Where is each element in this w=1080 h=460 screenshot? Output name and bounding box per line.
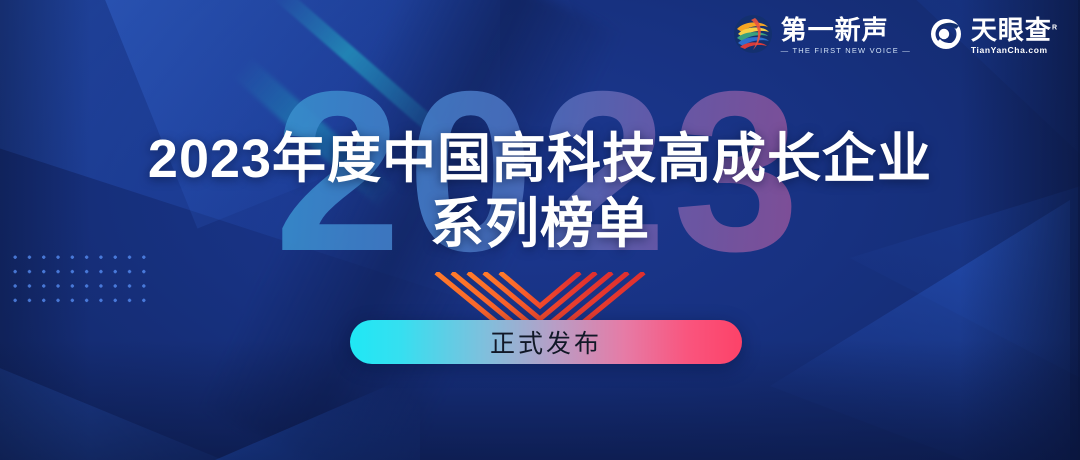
- title-line-2: 系列榜单: [0, 197, 1080, 252]
- ribbon-globe-icon: [733, 14, 773, 59]
- publish-button[interactable]: 正式发布: [350, 320, 742, 364]
- page-title: 2023年度中国高科技高成长企业 系列榜单: [0, 132, 1080, 252]
- logo-bar: 第一新声 — THE FIRST NEW VOICE — 天眼查R TianYa…: [733, 14, 1058, 59]
- logo-diyixinsheng-cn: 第一新声: [781, 17, 911, 44]
- logo-tianyancha[interactable]: 天眼查R TianYanCha.com: [929, 17, 1058, 56]
- logo-diyixinsheng-en: — THE FIRST NEW VOICE —: [781, 46, 911, 56]
- logo-diyixinsheng[interactable]: 第一新声 — THE FIRST NEW VOICE —: [733, 14, 911, 59]
- logo-tianyancha-text: 天眼查R TianYanCha.com: [971, 17, 1058, 56]
- title-line-1: 2023年度中国高科技高成长企业: [0, 132, 1080, 187]
- registered-mark: R: [1052, 24, 1058, 31]
- poster-banner: 2023 2023年度中国高科技高成长企业 系列榜单 正式发布: [0, 0, 1080, 460]
- logo-tianyancha-en: TianYanCha.com: [971, 45, 1058, 56]
- logo-tianyancha-cn: 天眼查R: [971, 17, 1058, 44]
- eye-lens-icon: [929, 17, 963, 56]
- logo-diyixinsheng-text: 第一新声 — THE FIRST NEW VOICE —: [781, 17, 911, 56]
- logo-tianyancha-cn-label: 天眼查: [971, 15, 1052, 45]
